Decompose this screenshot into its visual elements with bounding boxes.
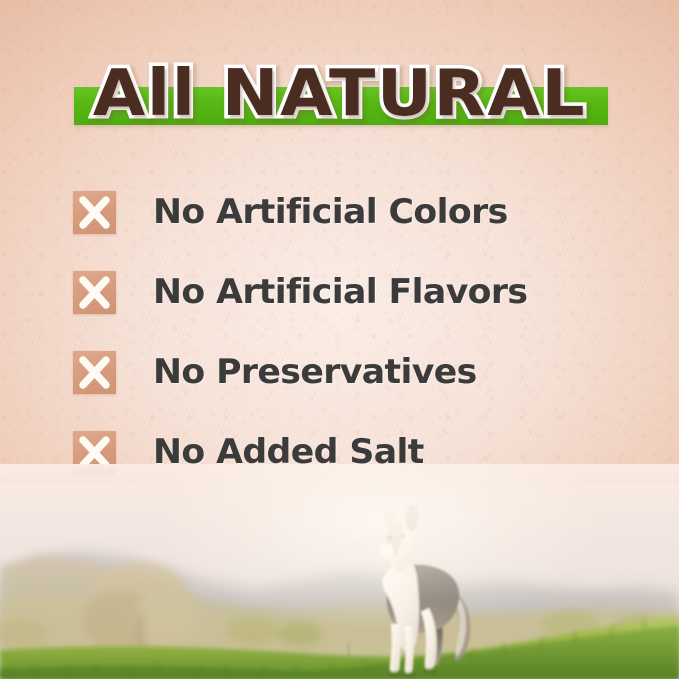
x-mark-icon [73, 191, 116, 234]
landscape-photo [0, 484, 679, 679]
x-mark-icon [73, 431, 116, 474]
page-title: All NATURAL [0, 44, 679, 144]
list-item: No Added Salt [0, 412, 679, 492]
header-banner: All NATURAL All NATURAL [0, 44, 679, 144]
claims-list: No Artificial Colors No Artificial Flavo… [0, 172, 679, 492]
list-item-label: No Added Salt [153, 432, 424, 472]
list-item-label: No Artificial Colors [153, 192, 508, 232]
list-item: No Artificial Flavors [0, 252, 679, 332]
list-item: No Artificial Colors [0, 172, 679, 252]
x-mark-icon [73, 351, 116, 394]
list-item-label: No Artificial Flavors [153, 272, 527, 312]
x-mark-icon [73, 271, 116, 314]
list-item: No Preservatives [0, 332, 679, 412]
product-feature-poster: All NATURAL All NATURAL No Artificial Co… [0, 0, 679, 679]
list-item-label: No Preservatives [153, 352, 477, 392]
